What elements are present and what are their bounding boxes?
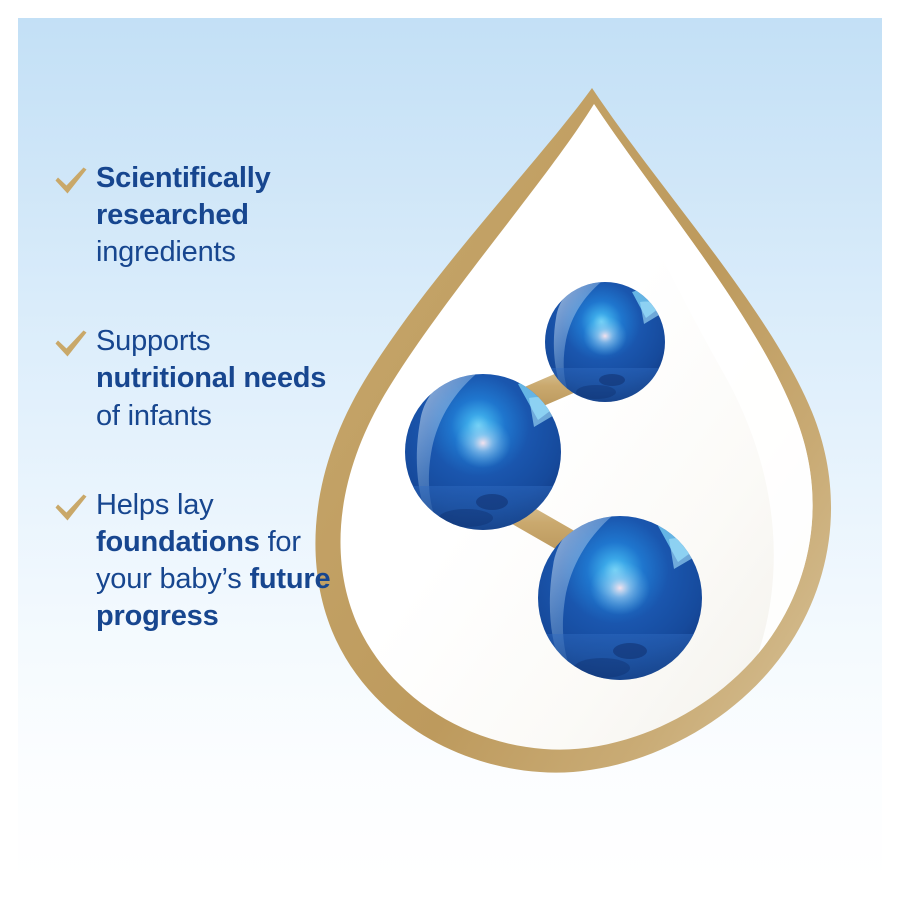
benefit-item: Scientifically researched ingredients: [54, 160, 354, 271]
benefit-text: Scientifically researched ingredients: [96, 160, 354, 271]
check-icon: [54, 329, 88, 359]
check-icon: [54, 493, 88, 523]
benefit-text: Supports nutritional needs of infants: [96, 323, 354, 434]
check-icon: [54, 166, 88, 196]
benefit-text: Helps lay foundations for your baby’s fu…: [96, 487, 354, 635]
benefit-item: Helps lay foundations for your baby’s fu…: [54, 487, 354, 635]
benefit-item: Supports nutritional needs of infants: [54, 323, 354, 434]
water-droplet-shape: [315, 88, 831, 773]
infographic-canvas: Scientifically researched ingredients Su…: [0, 0, 900, 900]
benefits-list: Scientifically researched ingredients Su…: [54, 160, 354, 635]
